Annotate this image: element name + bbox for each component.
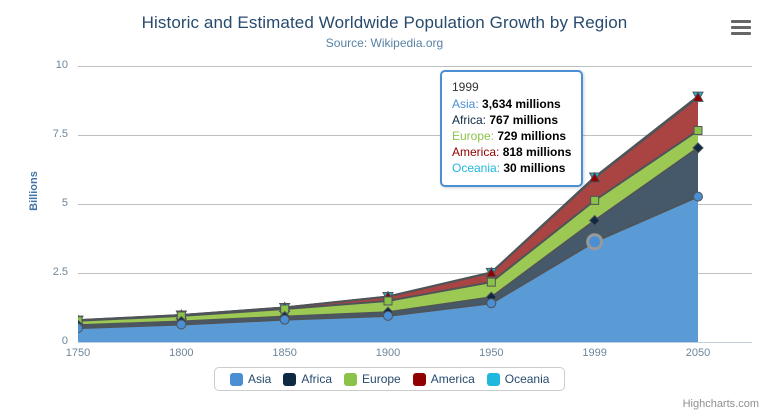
legend-label: America — [431, 372, 475, 386]
chart-subtitle: Source: Wikipedia.org — [0, 36, 769, 50]
legend-label: Oceania — [505, 372, 550, 386]
legend-swatch-icon — [487, 373, 500, 386]
y-tick-label: 10 — [8, 59, 68, 71]
tooltip-series-value: 729 millions — [497, 129, 566, 143]
x-tick-label: 1900 — [358, 347, 418, 359]
legend-swatch-icon — [413, 373, 426, 386]
y-tick-label: 0 — [8, 335, 68, 347]
tooltip-series-value: 818 millions — [503, 145, 572, 159]
legend-label: Asia — [248, 372, 271, 386]
tooltip-row: Africa: 767 millions — [452, 112, 571, 128]
menu-bar-2 — [731, 26, 751, 29]
legend-item-africa[interactable]: Africa — [283, 372, 332, 386]
x-tick-label: 1850 — [255, 347, 315, 359]
legend-swatch-icon — [344, 373, 357, 386]
tooltip-row: Oceania: 30 millions — [452, 160, 571, 176]
x-tick-label: 2050 — [668, 347, 728, 359]
x-tick-label: 1750 — [48, 347, 108, 359]
point-asia-1999-hover[interactable] — [588, 235, 602, 249]
tooltip: 1999 Asia: 3,634 millionsAfrica: 767 mil… — [440, 70, 583, 187]
tooltip-row: Europe: 729 millions — [452, 128, 571, 144]
tooltip-series-name: Oceania: — [452, 161, 503, 175]
legend-item-oceania[interactable]: Oceania — [487, 372, 550, 386]
highcharts-chart: Historic and Estimated Worldwide Populat… — [0, 0, 769, 416]
menu-bar-1 — [731, 20, 751, 23]
y-tick-label: 7.5 — [8, 128, 68, 140]
point-asia-1950[interactable] — [487, 299, 496, 308]
point-europe-2050[interactable] — [694, 127, 702, 135]
point-asia-1750[interactable] — [78, 324, 83, 333]
y-axis-title: Billions — [28, 151, 40, 231]
chart-title: Historic and Estimated Worldwide Populat… — [0, 13, 769, 33]
point-europe-1900[interactable] — [384, 297, 392, 305]
tooltip-series-value: 767 millions — [489, 113, 558, 127]
x-tick-label: 1950 — [461, 347, 521, 359]
plot-area — [78, 66, 752, 342]
point-asia-2050[interactable] — [694, 192, 703, 201]
y-tick-label: 2.5 — [8, 266, 68, 278]
tooltip-series-name: America: — [452, 145, 503, 159]
hamburger-menu-icon[interactable] — [729, 17, 753, 39]
tooltip-rows: Asia: 3,634 millionsAfrica: 767 millions… — [452, 96, 571, 176]
point-asia-1800[interactable] — [177, 320, 186, 329]
tooltip-row: America: 818 millions — [452, 144, 571, 160]
y-tick-label: 5 — [8, 197, 68, 209]
tooltip-series-name: Africa: — [452, 113, 489, 127]
x-tick-label: 1800 — [151, 347, 211, 359]
tooltip-series-value: 30 millions — [503, 161, 565, 175]
point-asia-1900[interactable] — [384, 311, 393, 320]
highcharts-credit[interactable]: Highcharts.com — [683, 398, 759, 410]
legend-label: Europe — [362, 372, 401, 386]
menu-bar-3 — [731, 32, 751, 35]
tooltip-row: Asia: 3,634 millions — [452, 96, 571, 112]
legend-item-europe[interactable]: Europe — [344, 372, 401, 386]
legend-swatch-icon — [230, 373, 243, 386]
legend-swatch-icon — [283, 373, 296, 386]
tooltip-series-name: Europe: — [452, 129, 497, 143]
legend-item-america[interactable]: America — [413, 372, 475, 386]
tooltip-series-value: 3,634 millions — [482, 97, 561, 111]
point-europe-1950[interactable] — [487, 278, 495, 286]
point-europe-1999[interactable] — [591, 196, 599, 204]
x-tick-label: 1999 — [565, 347, 625, 359]
tooltip-series-name: Asia: — [452, 97, 482, 111]
chart-legend[interactable]: AsiaAfricaEuropeAmericaOceania — [214, 367, 565, 391]
legend-item-asia[interactable]: Asia — [230, 372, 271, 386]
legend-label: Africa — [301, 372, 332, 386]
point-asia-1850[interactable] — [280, 315, 289, 324]
tooltip-header: 1999 — [452, 79, 571, 96]
